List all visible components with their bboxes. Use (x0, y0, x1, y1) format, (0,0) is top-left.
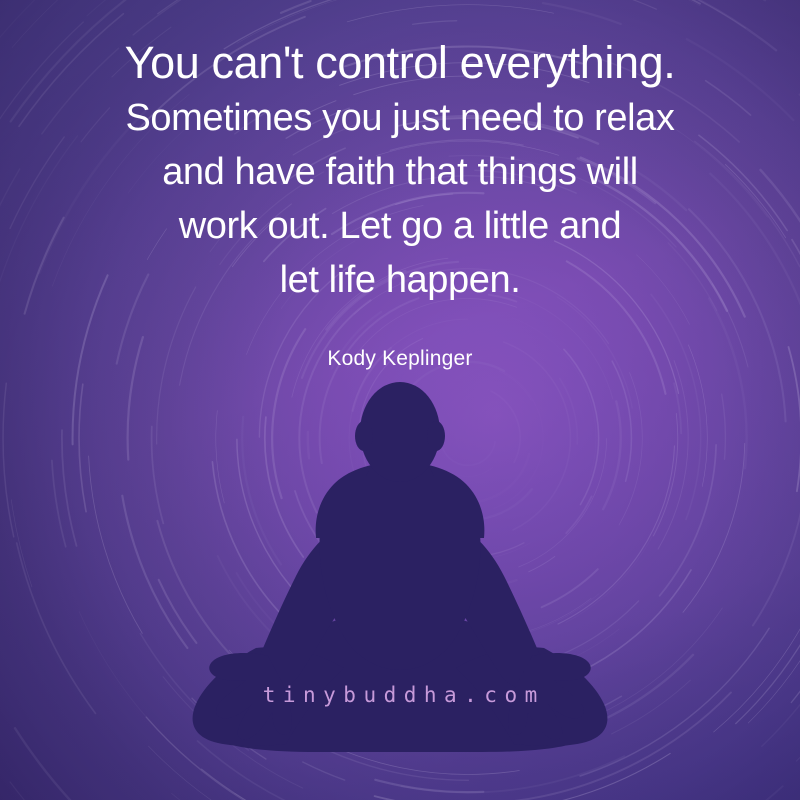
quote-text-block: You can't control everything. Sometimes … (0, 34, 800, 307)
quote-author: Kody Keplinger (0, 347, 800, 371)
quote-line-1: You can't control everything. (0, 34, 800, 91)
quote-card: You can't control everything. Sometimes … (0, 0, 800, 800)
quote-line-3: and have faith that things will (0, 145, 800, 199)
quote-line-4: work out. Let go a little and (0, 199, 800, 253)
quote-line-2: Sometimes you just need to relax (0, 91, 800, 145)
site-watermark: tinybuddha.com (0, 683, 800, 707)
quote-line-5: let life happen. (0, 253, 800, 307)
